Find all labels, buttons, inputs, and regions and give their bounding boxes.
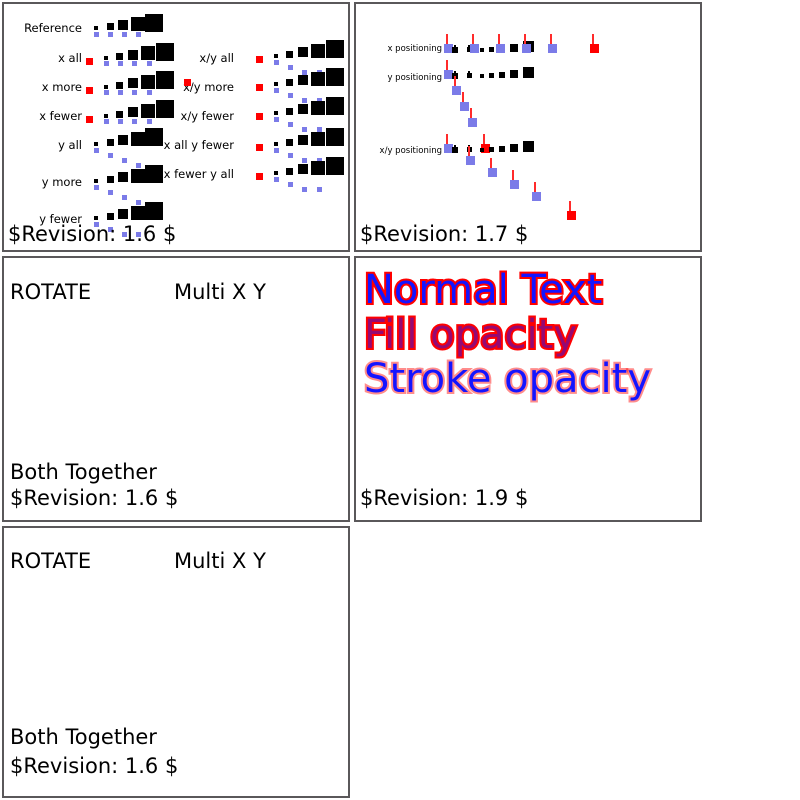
tl-R-row1-red-start-marker — [256, 84, 263, 91]
tl-R-row3-black-marker-1 — [286, 139, 293, 146]
tr-x-positioning-blue-1 — [470, 44, 479, 53]
panel-middle-right: Normal Text Normal Text Normal Text Fill… — [354, 256, 702, 522]
tl-R-row3-black-marker-4 — [326, 128, 344, 146]
tl-L-row2-blue-marker-1 — [118, 90, 123, 95]
tl-R-row0-black-marker-0 — [274, 54, 278, 58]
tr-x-positioning-stem-1 — [472, 34, 474, 44]
tl-R-row4-blue-marker-2 — [302, 187, 307, 192]
tr-y-positioning-black-3 — [510, 70, 518, 78]
tl-L-row4-black-marker-4 — [145, 128, 163, 146]
tl-L-row5-black-marker-2 — [118, 172, 128, 182]
tl-R-row1-blue-marker-2 — [302, 98, 307, 103]
tl-L-row6-black-marker-3 — [131, 206, 145, 220]
tl-R-row0-black-marker-3 — [311, 44, 325, 58]
tl-R-row0-red-start-marker — [256, 56, 263, 63]
tl-R-row2-black-marker-2 — [298, 104, 308, 114]
tl-R-row1-black-marker-3 — [311, 72, 325, 86]
tr-x-positioning-stem-end — [592, 34, 594, 44]
tr-xy-positioning-stem-0 — [446, 134, 448, 144]
tl-R-row4-black-marker-0 — [274, 171, 278, 175]
tl-L-row3-black-marker-3 — [141, 104, 155, 118]
tl-R-row4-black-marker-1 — [286, 168, 293, 175]
fancy-text-fill-opacity-fill: Fill opacity — [364, 315, 577, 355]
tl-L-row1-black-marker-1 — [116, 53, 123, 60]
tl-L-row4-blue-marker-0 — [94, 148, 99, 153]
tr-y-positioning-blue-2 — [460, 102, 469, 111]
tl-L-row1-black-marker-4 — [156, 43, 174, 61]
tl-L-row3-blue-marker-1 — [118, 119, 123, 124]
tl-R-row0-black-marker-4 — [326, 40, 344, 58]
tl-R-row3-blue-marker-0 — [274, 148, 279, 153]
tl-L-row2-blue-marker-0 — [104, 90, 109, 95]
tl-R-row2-blue-marker-2 — [302, 127, 307, 132]
tr-y-positioning-black-2 — [499, 72, 505, 78]
fancy-text-normal: Normal Text Normal Text Normal Text — [364, 270, 602, 310]
tl-L-row5-black-marker-1 — [107, 176, 114, 183]
tr-xy-positioning-stem-end — [569, 201, 571, 211]
fancy-text-stroke-opacity: Stroke opacity Stroke opacity Stroke opa… — [364, 359, 651, 399]
tr-xy-positioning-black-2 — [499, 146, 505, 152]
tl-L-row4-blue-marker-2 — [122, 158, 127, 163]
panel-middle-left: ROTATE Multi X Y Both Together $Revision… — [2, 256, 350, 522]
tl-L-row0-black-marker-2 — [118, 20, 128, 30]
fancy-text-fill-opacity: Fill opacity Fill opacity Fill opacity — [364, 315, 577, 355]
tl-R-row1-blue-marker-0 — [274, 88, 279, 93]
tl-L-row1-black-marker-2 — [128, 50, 138, 60]
tr-x-positioning-tick-b — [452, 47, 458, 53]
tl-R-row1-black-marker-2 — [298, 75, 308, 85]
tl-L-row3-red-start-marker — [86, 116, 93, 123]
tl-L-row1-blue-marker-1 — [118, 61, 123, 66]
tl-L-row2-red-start-marker — [86, 87, 93, 94]
tr-y-positioning-black-0 — [480, 74, 484, 78]
tr-x-positioning-black-3 — [510, 44, 518, 52]
tl-L-row1-red-start-marker — [86, 58, 93, 65]
tr-xy-positioning-blue-2 — [488, 168, 497, 177]
tl-L-row1-black-marker-3 — [141, 46, 155, 60]
fancy-text-stroke-opacity-fill: Stroke opacity — [364, 359, 651, 399]
test-sheet-root: Reference x all x more x fewer y all y m… — [0, 0, 800, 800]
tl-L-row5-black-marker-4 — [145, 165, 163, 183]
tl-L-row1-blue-marker-3 — [147, 61, 152, 66]
tl-R-row4-blue-marker-0 — [274, 177, 279, 182]
tr-x-positioning-stem-3 — [524, 34, 526, 44]
tl-L-row1-blue-marker-0 — [104, 61, 109, 66]
tl-L-row2-black-marker-4 — [156, 71, 174, 89]
tl-L-row4-black-marker-0 — [94, 142, 98, 146]
tl-R-row4-red-start-marker — [256, 173, 263, 180]
tl-R-row2-blue-marker-0 — [274, 117, 279, 122]
tl-R-row4-blue-marker-3 — [317, 187, 322, 192]
tl-L-row4-black-marker-2 — [118, 135, 128, 145]
tl-L-row6-black-marker-1 — [107, 213, 114, 220]
tr-xy-positioning-stem-3 — [512, 170, 514, 180]
tl-R-row3-blue-marker-2 — [302, 158, 307, 163]
panel-bottom-left-inner: ROTATE Multi X Y Both Together $Revision… — [4, 528, 348, 796]
tl-L-row1-black-marker-0 — [104, 56, 108, 60]
tr-x-positioning-stem-2 — [498, 34, 500, 44]
panel-top-right: x positioning y positioning x/y position… — [354, 2, 702, 252]
tl-L-row3-black-marker-0 — [104, 114, 108, 118]
tl-L-row4-blue-marker-1 — [108, 153, 113, 158]
tl-L-row2-black-marker-2 — [128, 78, 138, 88]
tr-y-positioning-stem-3 — [470, 108, 472, 118]
tl-R-row2-black-marker-3 — [311, 101, 325, 115]
tr-xy-positioning-black-4 — [523, 141, 534, 152]
tl-L-row5-black-marker-0 — [94, 179, 98, 183]
tl-L-row2-black-marker-0 — [104, 85, 108, 89]
tl-L-row3-blue-marker-0 — [104, 119, 109, 124]
tl-R-row4-blue-marker-1 — [288, 182, 293, 187]
tl-R-row1-black-marker-4 — [326, 68, 344, 86]
panel-middle-left-inner: ROTATE Multi X Y Both Together $Revision… — [4, 258, 348, 520]
tl-R-row2-black-marker-1 — [286, 108, 293, 115]
panel-top-left: Reference x all x more x fewer y all y m… — [2, 2, 350, 252]
tl-L-row6-black-marker-0 — [94, 216, 98, 220]
tl-L-row0-black-marker-1 — [107, 23, 114, 30]
tr-xy-positioning-stem-1 — [468, 146, 470, 156]
tr-y-positioning-stem-1 — [454, 76, 456, 86]
tl-R-row3-black-marker-3 — [311, 132, 325, 146]
tr-x-positioning-blue-4 — [548, 44, 557, 53]
tl-L-row0-blue-marker-2 — [122, 32, 127, 37]
tl-R-row4-black-marker-4 — [326, 157, 344, 175]
panel-top-left-inner: Reference x all x more x fewer y all y m… — [4, 4, 348, 250]
tl-L-row2-black-marker-3 — [141, 75, 155, 89]
tl-L-row0-black-marker-4 — [145, 14, 163, 32]
tl-L-row5-blue-marker-0 — [94, 185, 99, 190]
heading-rotate-middle: ROTATE — [10, 280, 91, 304]
tr-xy-positioning-tick-b — [452, 147, 458, 153]
tl-L-row3-blue-marker-2 — [132, 119, 137, 124]
panel-bottom-right-inner — [354, 526, 702, 798]
tr-y-positioning-black-1 — [489, 73, 494, 78]
tl-L-row4-black-marker-3 — [131, 132, 145, 146]
tl-L-row5-blue-marker-3 — [136, 200, 141, 205]
tr-y-positioning-black-4 — [523, 67, 534, 78]
tl-R-row0-blue-marker-1 — [288, 65, 293, 70]
marker-layer-top-left — [4, 4, 348, 250]
tl-L-row0-black-marker-0 — [94, 26, 98, 30]
tl-L-row0-black-marker-3 — [131, 17, 145, 31]
tl-L-row6-black-marker-4 — [145, 202, 163, 220]
tr-xy-positioning-black-3 — [510, 144, 518, 152]
tl-L-row5-black-marker-3 — [131, 169, 145, 183]
heading-rotate-bottom: ROTATE — [10, 549, 91, 573]
tr-y-positioning-blue-1 — [452, 86, 461, 95]
tr-y-positioning-stem-2 — [462, 92, 464, 102]
tl-L-row5-blue-marker-1 — [108, 190, 113, 195]
tl-L-row2-blue-marker-3 — [147, 90, 152, 95]
tr-x-positioning-stem-0 — [446, 34, 448, 44]
marker-layer-top-right — [356, 4, 700, 250]
tl-L-row2-red-end-marker — [184, 79, 191, 86]
tr-xy-positioning-blue-1 — [466, 156, 475, 165]
tl-R-row3-black-marker-0 — [274, 142, 278, 146]
tr-x-positioning-black-1 — [489, 47, 494, 52]
tr-y-positioning-stem-0 — [446, 60, 448, 70]
tl-L-row1-blue-marker-2 — [132, 61, 137, 66]
fancy-text-normal-fill: Normal Text — [364, 270, 602, 310]
panel-bottom-right — [354, 526, 702, 798]
panel-bottom-left: ROTATE Multi X Y Both Together $Revision… — [2, 526, 350, 798]
tl-R-row3-blue-marker-1 — [288, 153, 293, 158]
tl-L-row0-blue-marker-3 — [136, 32, 141, 37]
tl-R-row3-red-start-marker — [256, 144, 263, 151]
tl-L-row0-blue-marker-0 — [94, 32, 99, 37]
footer-both-together-middle: Both Together — [10, 460, 157, 484]
tr-x-positioning-stem-4 — [550, 34, 552, 44]
tr-x-positioning-blue-2 — [496, 44, 505, 53]
revision-stamp-top-right: $Revision: 1.7 $ — [360, 222, 528, 246]
tl-L-row3-black-marker-1 — [116, 111, 123, 118]
tl-R-row1-black-marker-0 — [274, 82, 278, 86]
revision-stamp-top-left: $Revision: 1.6 $ — [8, 222, 176, 246]
tl-L-row3-blue-marker-3 — [147, 119, 152, 124]
tr-y-positioning-blue-3 — [468, 118, 477, 127]
tl-R-row0-blue-marker-0 — [274, 60, 279, 65]
tl-R-row4-black-marker-3 — [311, 161, 325, 175]
tr-xy-positioning-blue-4 — [532, 192, 541, 201]
panel-top-right-inner: x positioning y positioning x/y position… — [356, 4, 700, 250]
panel-middle-right-inner: Normal Text Normal Text Normal Text Fill… — [356, 258, 700, 520]
revision-stamp-middle-right: $Revision: 1.9 $ — [360, 486, 528, 510]
tl-R-row4-black-marker-2 — [298, 164, 308, 174]
tr-xy-positioning-red-end — [567, 211, 576, 220]
tl-R-row1-black-marker-1 — [286, 79, 293, 86]
tl-L-row2-blue-marker-2 — [132, 90, 137, 95]
revision-stamp-bottom-left: $Revision: 1.6 $ — [10, 754, 178, 778]
revision-stamp-middle-left: $Revision: 1.6 $ — [10, 486, 178, 510]
tr-xy-positioning-stem-4 — [534, 182, 536, 192]
tl-R-row3-black-marker-2 — [298, 135, 308, 145]
tl-L-row0-blue-marker-1 — [108, 32, 113, 37]
tr-x-positioning-red-end — [590, 44, 599, 53]
tl-L-row5-blue-marker-2 — [122, 195, 127, 200]
heading-multi-xy-middle: Multi X Y — [174, 280, 266, 304]
tl-R-row2-blue-marker-1 — [288, 122, 293, 127]
tl-R-row0-black-marker-1 — [286, 51, 293, 58]
tr-x-positioning-blue-3 — [522, 44, 531, 53]
tl-L-row4-black-marker-1 — [107, 139, 114, 146]
footer-both-together-bottom: Both Together — [10, 725, 157, 749]
tr-xy-positioning-stem-2 — [490, 158, 492, 168]
tl-R-row0-black-marker-2 — [298, 47, 308, 57]
tl-R-row2-red-start-marker — [256, 113, 263, 120]
tl-R-row1-blue-marker-1 — [288, 93, 293, 98]
tl-R-row2-black-marker-0 — [274, 111, 278, 115]
heading-multi-xy-bottom: Multi X Y — [174, 549, 266, 573]
tr-xy-positioning-black-0 — [480, 148, 484, 152]
tl-L-row3-black-marker-2 — [128, 107, 138, 117]
tr-y-positioning-tick-d — [467, 73, 472, 78]
tl-R-row2-black-marker-4 — [326, 97, 344, 115]
tl-L-row3-black-marker-4 — [156, 100, 174, 118]
tr-y-positioning-stem-end — [483, 134, 485, 144]
tr-xy-positioning-black-1 — [489, 147, 494, 152]
tr-xy-positioning-blue-3 — [510, 180, 519, 189]
tl-L-row2-black-marker-1 — [116, 82, 123, 89]
tl-L-row4-blue-marker-3 — [136, 163, 141, 168]
tr-x-positioning-black-0 — [480, 48, 484, 52]
tl-L-row6-black-marker-2 — [118, 209, 128, 219]
